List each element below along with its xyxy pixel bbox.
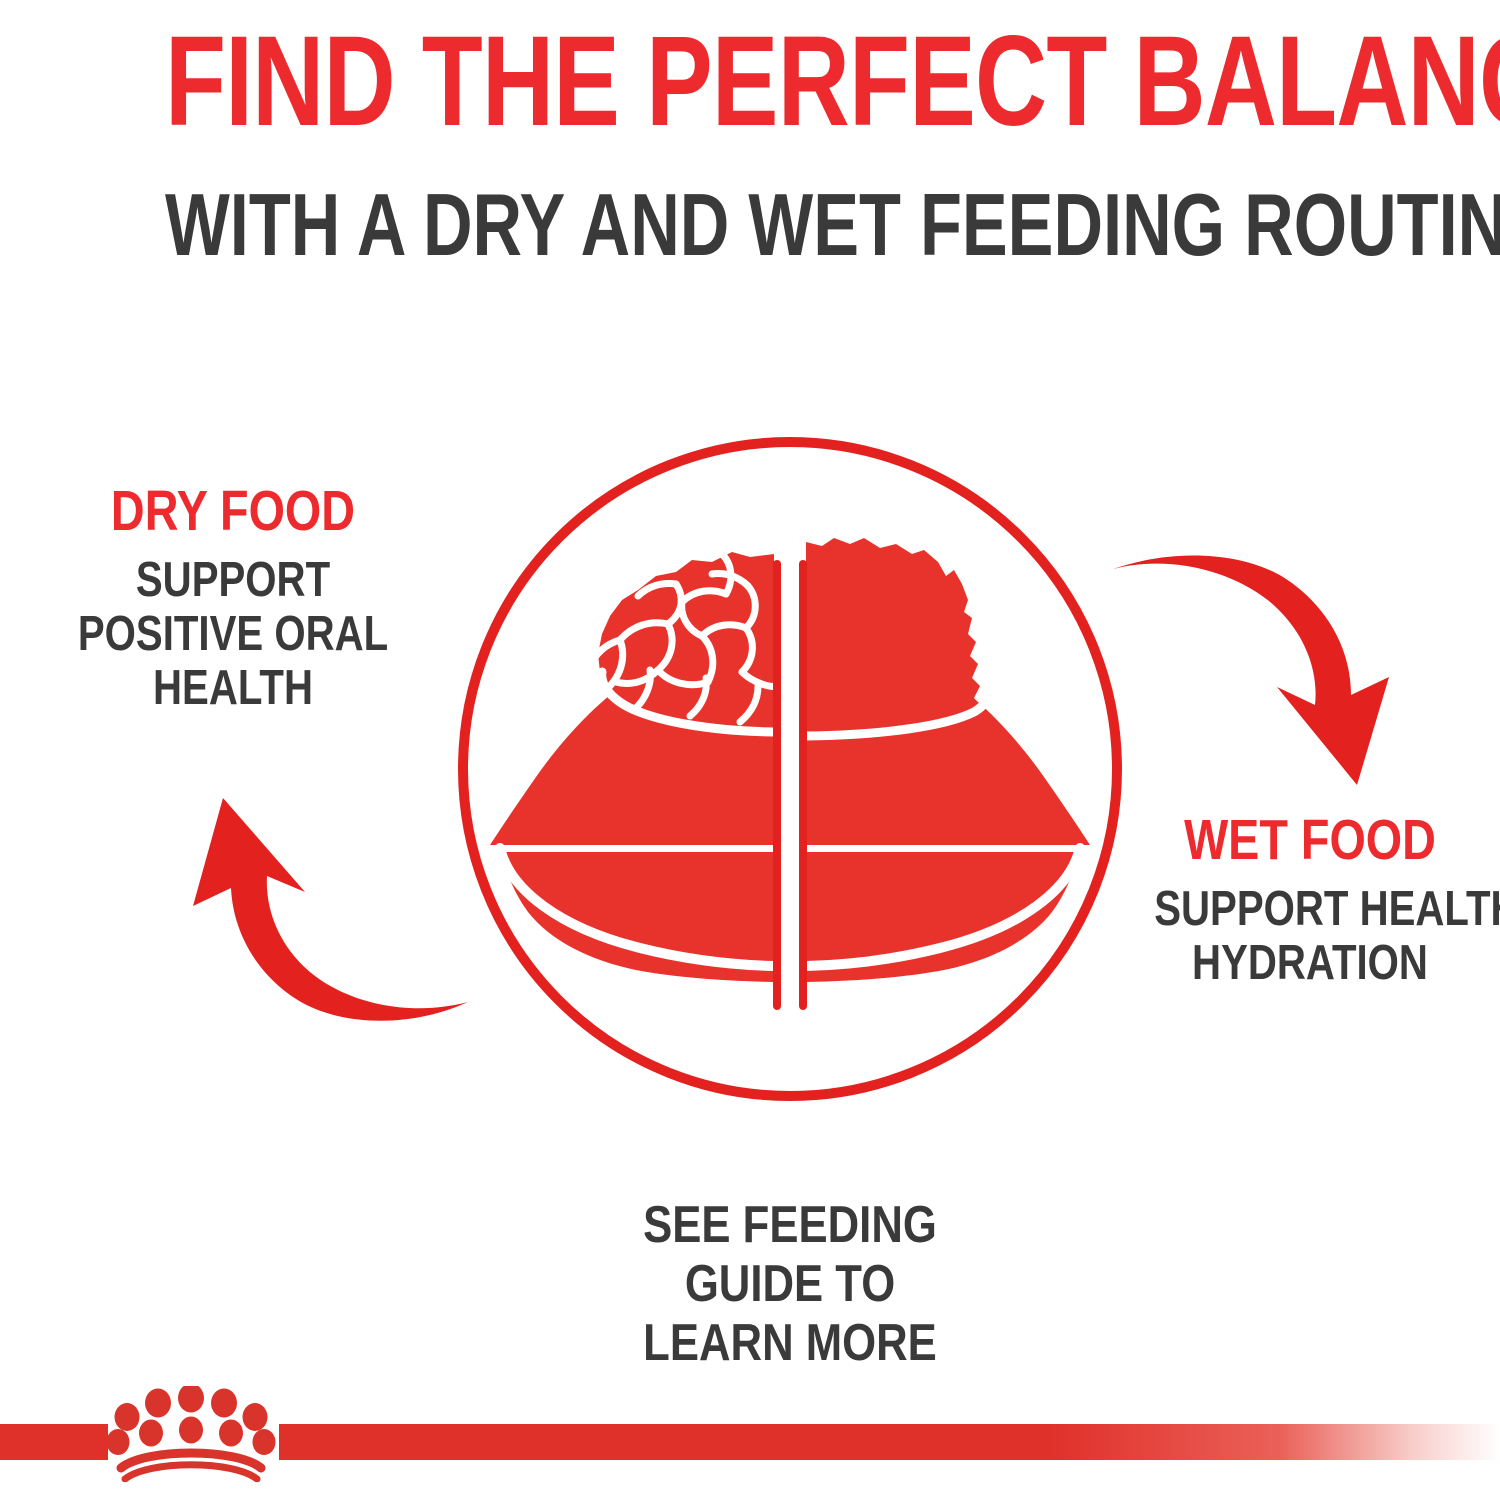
dry-food-body-line: POSITIVE ORAL xyxy=(65,608,401,662)
footer-bar-left-segment xyxy=(0,1424,108,1460)
dry-food-body-line: HEALTH xyxy=(65,662,401,716)
divider-line-left xyxy=(773,560,781,1010)
bowl-right-wet-half xyxy=(806,538,1090,845)
poster-canvas: FIND THE PERFECT BALANCE WITH A DRY AND … xyxy=(0,0,1500,1500)
wet-food-body-line: SUPPORT HEALTHY xyxy=(1154,883,1466,937)
royal-canin-crown-logo xyxy=(103,1386,279,1482)
curved-arrow-up-left-icon xyxy=(185,780,475,1040)
dry-food-body-line: SUPPORT xyxy=(65,554,401,608)
split-food-bowl-icon xyxy=(440,420,1140,1120)
wet-food-body-line: HYDRATION xyxy=(1154,937,1466,991)
feeding-guide-cta[interactable]: SEE FEEDING GUIDE TO LEARN MORE xyxy=(538,1196,1042,1372)
cta-line: LEARN MORE xyxy=(538,1314,1042,1373)
footer-bar-right-segment xyxy=(279,1424,1500,1460)
bowl-left-dry-half xyxy=(490,552,774,845)
curved-arrow-down-right-icon xyxy=(1105,545,1395,795)
page-title: FIND THE PERFECT BALANCE xyxy=(165,18,1335,146)
dry-food-body: SUPPORT POSITIVE ORAL HEALTH xyxy=(65,554,401,716)
cta-line: GUIDE TO xyxy=(538,1255,1042,1314)
divider-line-right xyxy=(799,560,807,1010)
page-subtitle: WITH A DRY AND WET FEEDING ROUTINE xyxy=(165,181,1335,269)
dry-food-callout: DRY FOOD SUPPORT POSITIVE ORAL HEALTH xyxy=(28,483,438,716)
cta-line: SEE FEEDING xyxy=(538,1196,1042,1255)
wet-food-callout: WET FOOD SUPPORT HEALTHY HYDRATION xyxy=(1120,812,1500,991)
wet-food-title: WET FOOD xyxy=(1154,812,1466,869)
wet-food-body: SUPPORT HEALTHY HYDRATION xyxy=(1154,883,1466,991)
dry-food-title: DRY FOOD xyxy=(65,483,401,540)
